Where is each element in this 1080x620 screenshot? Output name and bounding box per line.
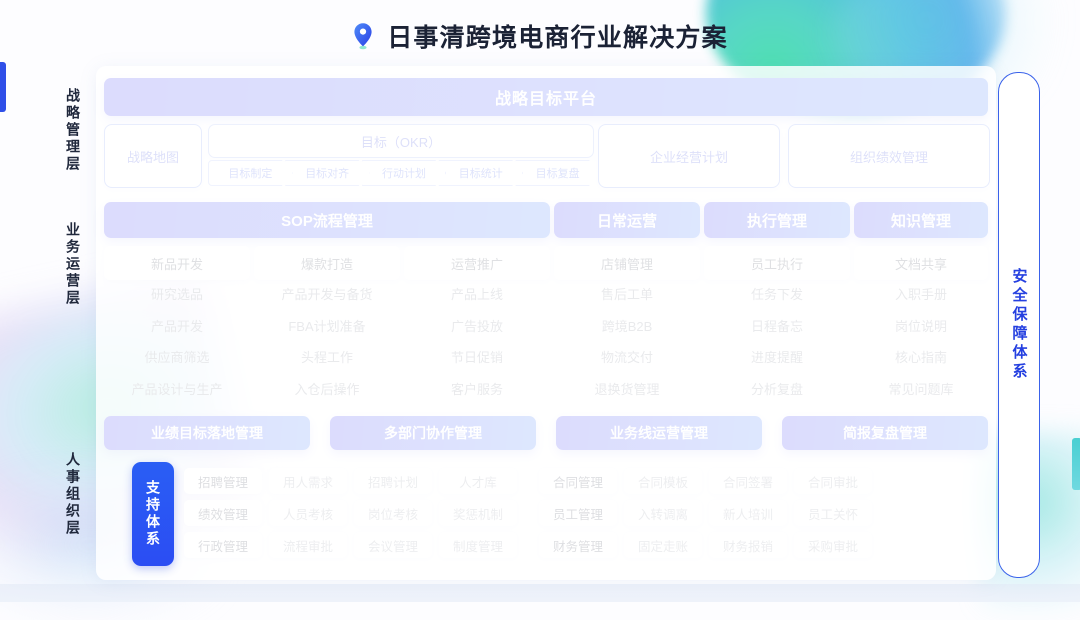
security-system-column[interactable]: 安全保障体系: [998, 72, 1040, 578]
left-edge-accent-tab: [0, 62, 6, 112]
layer-label-business: 业务运营层: [56, 222, 82, 307]
support-system-label: 支持体系: [143, 480, 163, 548]
bottom-shadow-strip: [0, 584, 1080, 602]
page-title: 日事清跨境电商行业解决方案: [387, 18, 728, 54]
right-edge-accent-tab: [1072, 438, 1080, 490]
support-system-box[interactable]: 支持体系: [132, 462, 174, 566]
location-pin-icon: [352, 22, 374, 50]
solution-diagram-frame: [96, 66, 996, 580]
security-system-label: 安全保障体系: [1009, 268, 1030, 382]
page-header: 日事清跨境电商行业解决方案: [0, 14, 1080, 58]
layer-label-hr: 人事组织层: [56, 452, 82, 537]
layer-label-strategy: 战略管理层: [56, 88, 82, 173]
